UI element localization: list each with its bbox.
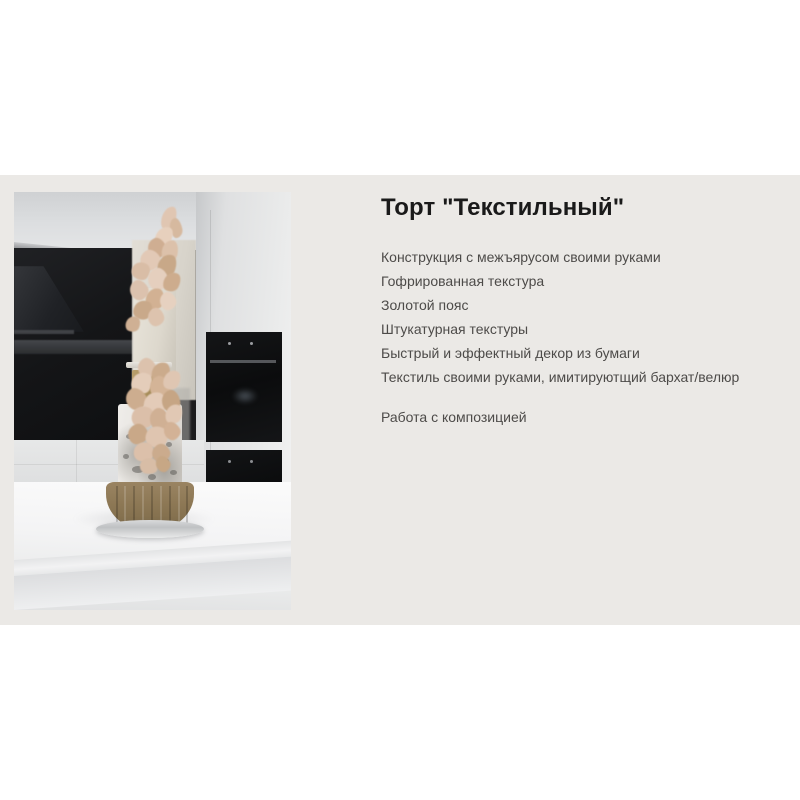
page-title: Торт "Текстильный" <box>381 194 624 222</box>
closing-line: Работа с композицией <box>381 405 527 429</box>
slide-content-band: Торт "Текстильный" Конструкция с межъяру… <box>0 175 800 625</box>
list-item: Гофрированная текстура <box>381 269 793 293</box>
text-column: Торт "Текстильный" Конструкция с межъяру… <box>381 175 791 625</box>
bullet-list: Конструкция с межъярусом своими руками Г… <box>381 245 793 389</box>
photo-scene <box>14 192 291 610</box>
list-item: Текстиль своими руками, имитируютщий бар… <box>381 365 793 389</box>
cake-photo <box>14 192 291 610</box>
list-item: Быстрый и эффектный декор из бумаги <box>381 341 793 365</box>
cake-stand-plate <box>96 520 204 538</box>
list-item: Штукатурная текстуры <box>381 317 793 341</box>
tiered-cake <box>14 192 291 610</box>
list-item: Золотой пояс <box>381 293 793 317</box>
list-item: Конструкция с межъярусом своими руками <box>381 245 793 269</box>
